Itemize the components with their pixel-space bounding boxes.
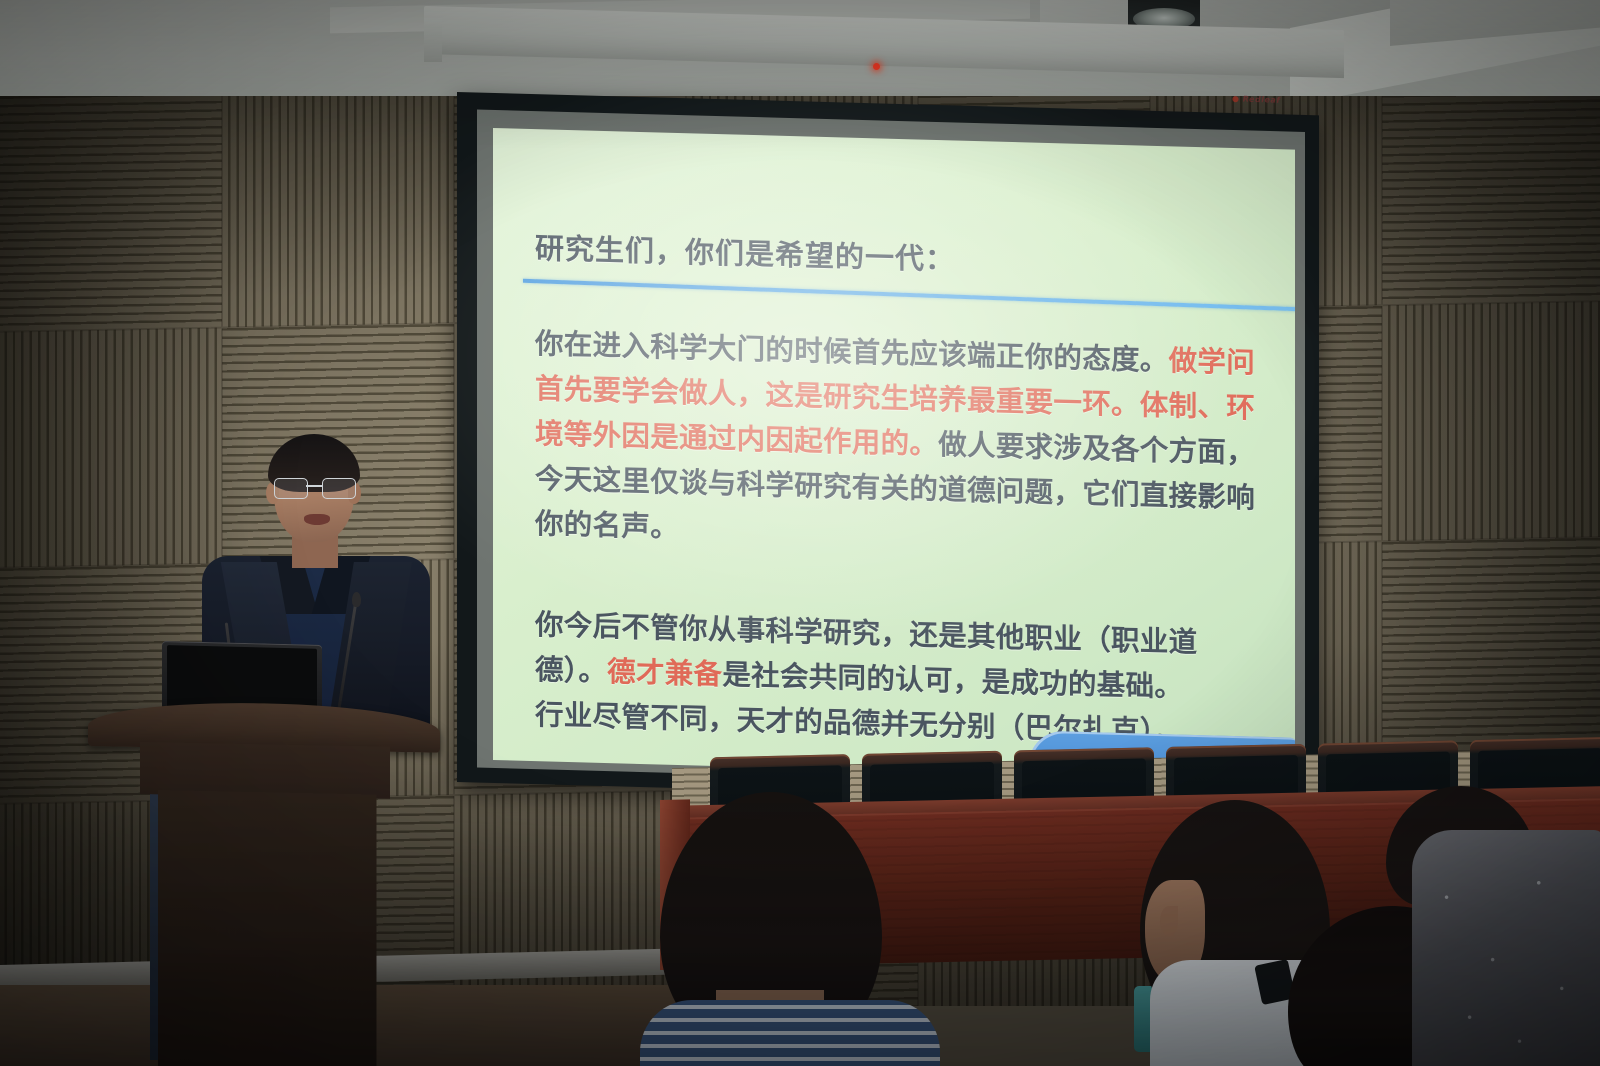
- wall-panel: [222, 96, 454, 328]
- laptop-screen: [167, 645, 317, 712]
- eyeglasses-icon: [272, 478, 358, 498]
- slide-p1-seg1: 你在进入科学大门的时候首先应该端正你的态度。: [535, 327, 1169, 377]
- screen-mat: 研究生们，你们是希望的一代： 你在进入科学大门的时候首先应该端正你的态度。做学问…: [477, 110, 1305, 790]
- audience-striped-shirt: [640, 1000, 940, 1066]
- slide-p2-seg3: 是社会共同的认可，是成功的基础。: [722, 658, 1183, 703]
- power-led-red-icon: [873, 63, 880, 70]
- slide-paragraph-1: 你在进入科学大门的时候首先应该端正你的态度。做学问首先要学会做人，这是研究生培养…: [535, 321, 1261, 566]
- wall-panel: [0, 96, 222, 332]
- wall-panel: [0, 328, 222, 568]
- screen-brand-text: Redleaf: [1243, 95, 1280, 105]
- projection-screen: 研究生们，你们是希望的一代： 你在进入科学大门的时候首先应该端正你的态度。做学问…: [457, 92, 1319, 805]
- speaker-mouth: [304, 514, 330, 525]
- slide-content: 研究生们，你们是希望的一代： 你在进入科学大门的时候首先应该端正你的态度。做学问…: [493, 128, 1295, 758]
- wall-panel: [1382, 96, 1600, 305]
- audience-grey-jacket: [1412, 830, 1600, 1066]
- screen-brand-label: ● Redleaf: [1232, 94, 1280, 105]
- audience-ear: [1160, 906, 1178, 936]
- eyeglass-lens-left: [274, 478, 308, 499]
- microphone-capsule: [352, 592, 361, 607]
- slide-title: 研究生们，你们是希望的一代：: [535, 225, 1261, 287]
- eyeglass-lens-right: [322, 478, 356, 499]
- podium-body: [158, 790, 377, 1066]
- lecture-hall-photo: ● Redleaf 研究生们，你们是希望的一代： 你在进入科学大门的时候首先应该…: [0, 0, 1600, 1066]
- wall-panel: [1382, 301, 1600, 541]
- slide-p2-highlight: 德才兼备: [607, 655, 722, 691]
- screen-housing-endcap: [424, 18, 442, 62]
- eyeglass-bridge: [306, 485, 322, 487]
- presentation-slide: 研究生们，你们是希望的一代： 你在进入科学大门的时候首先应该端正你的态度。做学问…: [493, 128, 1295, 782]
- jacket-texture: [1412, 830, 1600, 1066]
